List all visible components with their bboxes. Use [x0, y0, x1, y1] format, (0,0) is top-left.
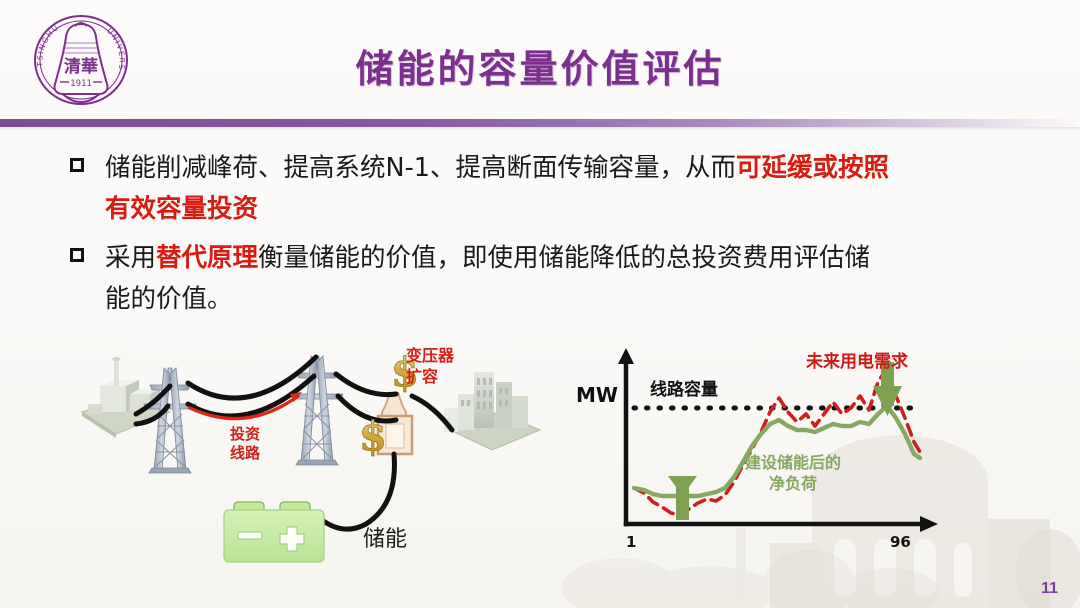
bullet-list: 储能削减峰荷、提高系统N-1、提高断面传输容量，从而可延缓或按照 有效容量投资 …: [70, 148, 1020, 328]
transformer-expansion-label: 变压器 扩容: [406, 345, 454, 387]
slide-root: 清華 1911 TSINGHUA UNIVERSITY 储能的容量价值评估 储能…: [0, 0, 1080, 608]
x-axis-tick-start: 1: [626, 533, 636, 551]
load-duration-chart: [568, 336, 980, 564]
power-grid-storage-illustration: $ $: [78, 338, 548, 570]
bullet-2-highlight: 替代原理: [156, 243, 258, 273]
bullet-1-line-2: 有效容量投资: [105, 189, 1020, 230]
storage-label: 储能: [363, 521, 407, 553]
y-axis-label: MW: [576, 383, 618, 407]
title-divider: [0, 119, 1080, 127]
bullet-2-line-2: 能的价值。: [105, 279, 1020, 320]
net-load-label-l1: 建设储能后的: [745, 453, 841, 472]
bullet-item-1: 储能削减峰荷、提高系统N-1、提高断面传输容量，从而可延缓或按照 有效容量投资: [70, 148, 1020, 230]
bullet-1-text: 储能削减峰荷、提高系统N-1、提高断面传输容量，从而: [105, 153, 736, 183]
bullet-item-2: 采用替代原理衡量储能的价值，即使用储能降低的总投资费用评估储 能的价值。: [70, 238, 1020, 320]
bullet-2-line-1: 采用替代原理衡量储能的价值，即使用储能降低的总投资费用评估储: [105, 238, 1020, 279]
bullet-1-highlight: 可延缓或按照: [736, 153, 889, 183]
net-load-label-l2: 净负荷: [769, 474, 817, 493]
net-load-label: 建设储能后的 净负荷: [745, 452, 841, 494]
invest-line-label-l1: 投资: [230, 425, 260, 443]
city-icon: [444, 372, 540, 450]
capacity-line-label: 线路容量: [650, 375, 718, 400]
bullet-2-post: 衡量储能的价值，即使用储能降低的总投资费用评估储: [258, 243, 870, 273]
invest-line-label: 投资 线路: [230, 425, 260, 463]
transformer-label-l1: 变压器: [406, 346, 454, 365]
page-number: 11: [1041, 580, 1058, 598]
x-axis-tick-end: 96: [890, 533, 911, 551]
invest-line-label-l2: 线路: [230, 444, 260, 462]
transformer-label-l2: 扩容: [406, 367, 438, 386]
bullet-1-line-1: 储能削减峰荷、提高系统N-1、提高断面传输容量，从而可延缓或按照: [105, 148, 1020, 189]
x-axis-arrowhead: [920, 516, 938, 532]
future-demand-label: 未来用电需求: [806, 347, 908, 372]
bullet-square-icon: [70, 248, 84, 262]
bullet-square-icon: [70, 158, 84, 172]
bullet-2-pre: 采用: [105, 243, 156, 273]
dollar-sign-line: $: [359, 413, 387, 460]
page-title: 储能的容量价值评估: [0, 38, 1080, 93]
y-axis-arrowhead: [618, 348, 634, 364]
battery-storage-icon: [224, 502, 324, 562]
